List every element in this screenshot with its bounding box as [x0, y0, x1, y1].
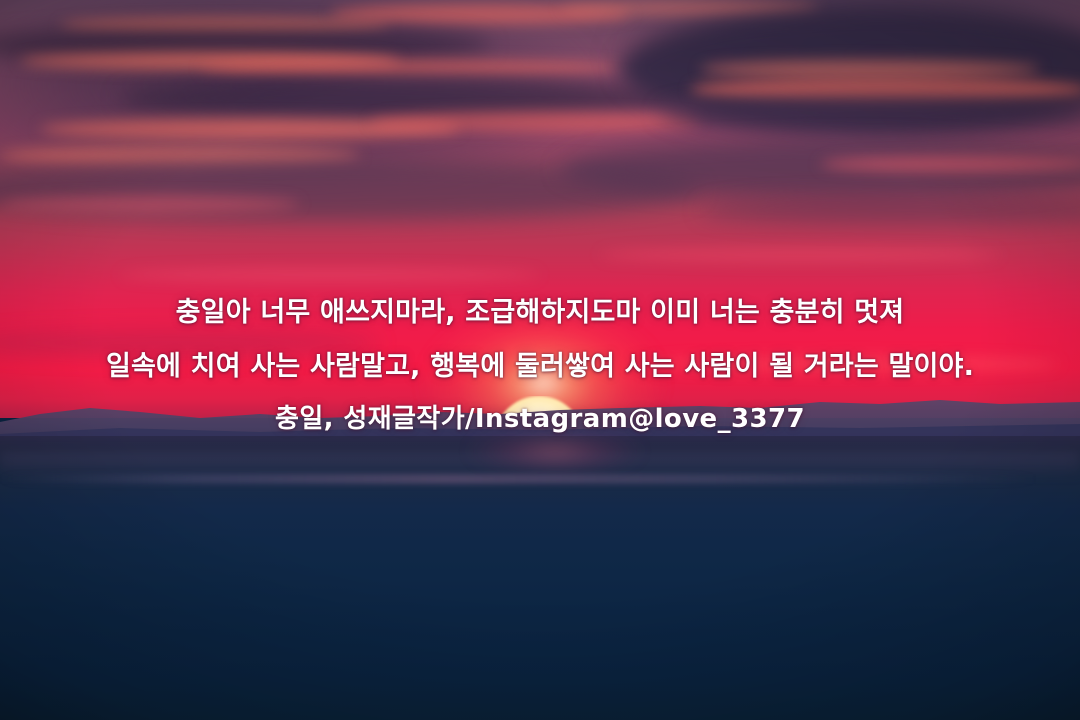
cloud-streak — [200, 60, 620, 76]
cloud-streak — [700, 60, 1040, 78]
quote-overlay: 충일아 너무 애쓰지마라, 조급해하지도마 이미 너는 충분히 멋져 일속에 치… — [0, 296, 1080, 436]
far-shoreline — [0, 474, 1080, 484]
sun-reflection-on-water — [430, 440, 680, 500]
cloud-streak — [820, 156, 1080, 172]
cloud-streak — [0, 196, 300, 212]
sunset-quote-image: 충일아 너무 애쓰지마라, 조급해하지도마 이미 너는 충분히 멋져 일속에 치… — [0, 0, 1080, 720]
cloud-streak — [370, 112, 700, 132]
cloud-dark-band — [660, 96, 1080, 130]
quote-line-1: 충일아 너무 애쓰지마라, 조급해하지도마 이미 너는 충분히 멋져 — [0, 296, 1080, 330]
quote-line-2: 일속에 치여 사는 사람말고, 행복에 둘러쌓여 사는 사람이 될 거라는 말이… — [0, 350, 1080, 384]
quote-signature: 충일, 성재글작가/Instagram@love_3377 — [0, 402, 1080, 436]
